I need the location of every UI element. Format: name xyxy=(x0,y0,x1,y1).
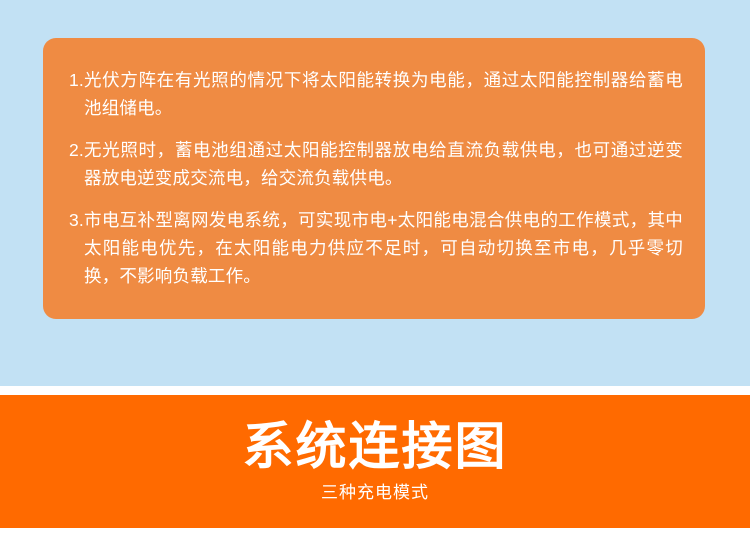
system-description-card: 1. 光伏方阵在有光照的情况下将太阳能转换为电能，通过太阳能控制器给蓄电池组储电… xyxy=(43,38,705,319)
list-item-text: 市电互补型离网发电系统，可实现市电+太阳能电混合供电的工作模式，其中太阳能电优先… xyxy=(84,206,683,290)
description-point-list: 1. 光伏方阵在有光照的情况下将太阳能转换为电能，通过太阳能控制器给蓄电池组储电… xyxy=(69,66,683,290)
list-item-text: 光伏方阵在有光照的情况下将太阳能转换为电能，通过太阳能控制器给蓄电池组储电。 xyxy=(84,66,683,122)
list-item: 1. 光伏方阵在有光照的情况下将太阳能转换为电能，通过太阳能控制器给蓄电池组储电… xyxy=(69,66,683,122)
bottom-white-strip xyxy=(0,528,750,558)
list-item: 3. 市电互补型离网发电系统，可实现市电+太阳能电混合供电的工作模式，其中太阳能… xyxy=(69,206,683,290)
section-separator xyxy=(0,386,750,395)
list-item-number: 1. xyxy=(69,66,84,94)
section-banner: 系统连接图 三种充电模式 xyxy=(0,395,750,528)
banner-title: 系统连接图 xyxy=(242,419,507,474)
list-item-text: 无光照时，蓄电池组通过太阳能控制器放电给直流负载供电，也可通过逆变器放电逆变成交… xyxy=(84,136,683,192)
list-item-number: 2. xyxy=(69,136,84,164)
list-item: 2. 无光照时，蓄电池组通过太阳能控制器放电给直流负载供电，也可通过逆变器放电逆… xyxy=(69,136,683,192)
page-root: 1. 光伏方阵在有光照的情况下将太阳能转换为电能，通过太阳能控制器给蓄电池组储电… xyxy=(0,0,750,558)
banner-subtitle: 三种充电模式 xyxy=(321,482,429,504)
list-item-number: 3. xyxy=(69,206,84,234)
